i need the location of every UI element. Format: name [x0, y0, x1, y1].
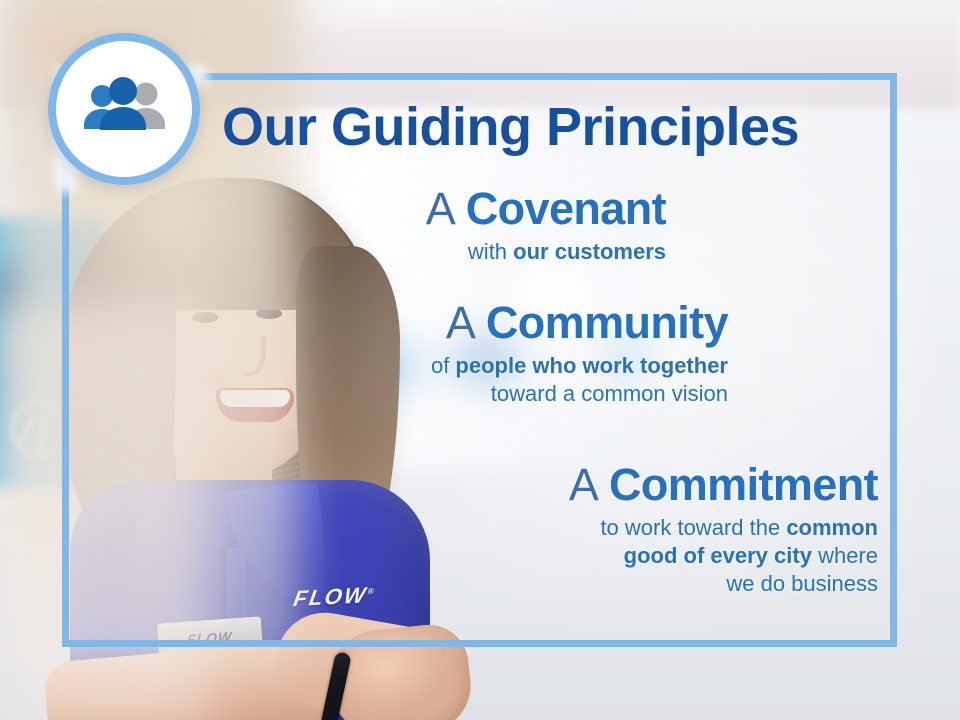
subtext-line: of people who work together	[330, 352, 728, 380]
principle-lead-article: A	[446, 297, 474, 348]
principle-lead-article: A	[569, 459, 597, 510]
principle-keyword: Commitment	[609, 459, 878, 510]
principle-commitment: A Commitment to work toward the common g…	[400, 462, 878, 598]
subtext-line: we do business	[400, 570, 878, 598]
subtext-plain: with	[468, 239, 513, 264]
principle-lead-article: A	[426, 183, 454, 234]
principle-community-heading: A Community	[330, 300, 728, 346]
subtext-bold: common	[786, 515, 878, 540]
subtext-line: good of every city where	[400, 542, 878, 570]
subtext-plain: where	[812, 543, 878, 568]
subtext-plain: to work toward the	[600, 515, 786, 540]
foreground-blurred-customer-body	[0, 300, 210, 720]
subtext-bold: our customers	[513, 239, 666, 264]
principle-covenant-heading: A Covenant	[330, 186, 666, 232]
principle-commitment-heading: A Commitment	[400, 462, 878, 508]
subtext-bold: people who work together	[455, 353, 728, 378]
principle-covenant: A Covenant with our customers	[330, 186, 666, 266]
principle-community-subtext: of people who work together toward a com…	[330, 352, 728, 408]
principle-keyword: Community	[486, 297, 728, 348]
page-title: Our Guiding Principles	[222, 96, 799, 158]
people-badge	[48, 33, 200, 185]
subtext-line: to work toward the common	[400, 514, 878, 542]
people-group-icon	[78, 77, 170, 141]
subtext-bold: good of every city	[624, 543, 812, 568]
guiding-principles-poster: FLOW FLOW® Our Guiding Principles	[0, 0, 960, 720]
subtext-plain: of	[431, 353, 455, 378]
principle-covenant-subtext: with our customers	[330, 238, 666, 266]
subtext-line: toward a common vision	[330, 380, 728, 408]
principle-commitment-subtext: to work toward the common good of every …	[400, 514, 878, 598]
principle-keyword: Covenant	[466, 183, 666, 234]
principle-community: A Community of people who work together …	[330, 300, 728, 408]
